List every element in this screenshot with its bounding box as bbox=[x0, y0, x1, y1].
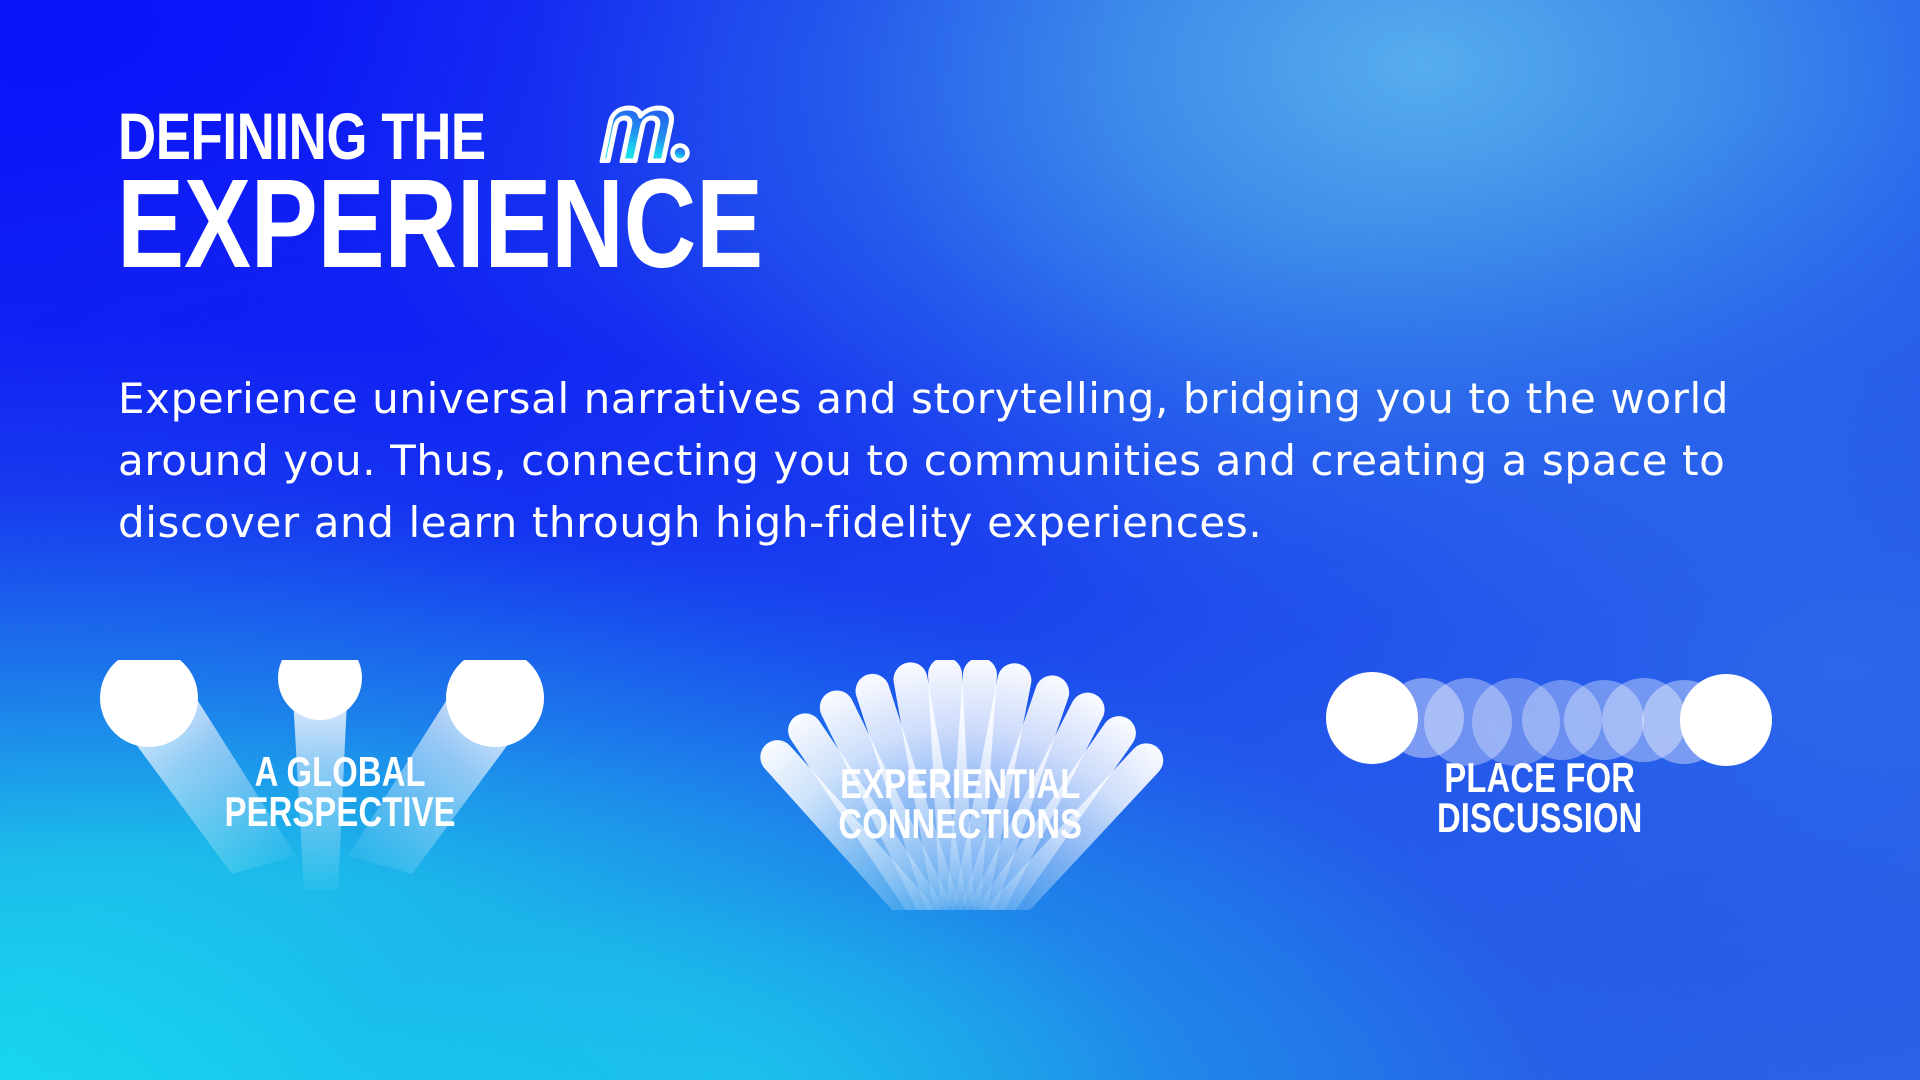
headline-block: Defining The bbox=[118, 104, 924, 275]
feature-item-global-perspective: A Global Perspective bbox=[100, 660, 580, 960]
feature-label-experiential-connections: Experiential Connections bbox=[838, 764, 1082, 845]
lede-paragraph: Experience universal narratives and stor… bbox=[118, 368, 1808, 554]
feature-item-experiential-connections: Experiential Connections bbox=[740, 660, 1180, 960]
headline-main: Experience bbox=[117, 174, 763, 275]
feature-label-place-for-discussion: Place For Discussion bbox=[1437, 758, 1642, 839]
feature-label-global-perspective: A Global Perspective bbox=[224, 752, 455, 833]
feature-row: A Global Perspective bbox=[0, 660, 1920, 960]
slide-canvas: Defining The bbox=[0, 0, 1920, 1080]
feature-item-place-for-discussion: Place For Discussion bbox=[1300, 660, 1780, 960]
slide-content: Defining The bbox=[0, 0, 1920, 1080]
